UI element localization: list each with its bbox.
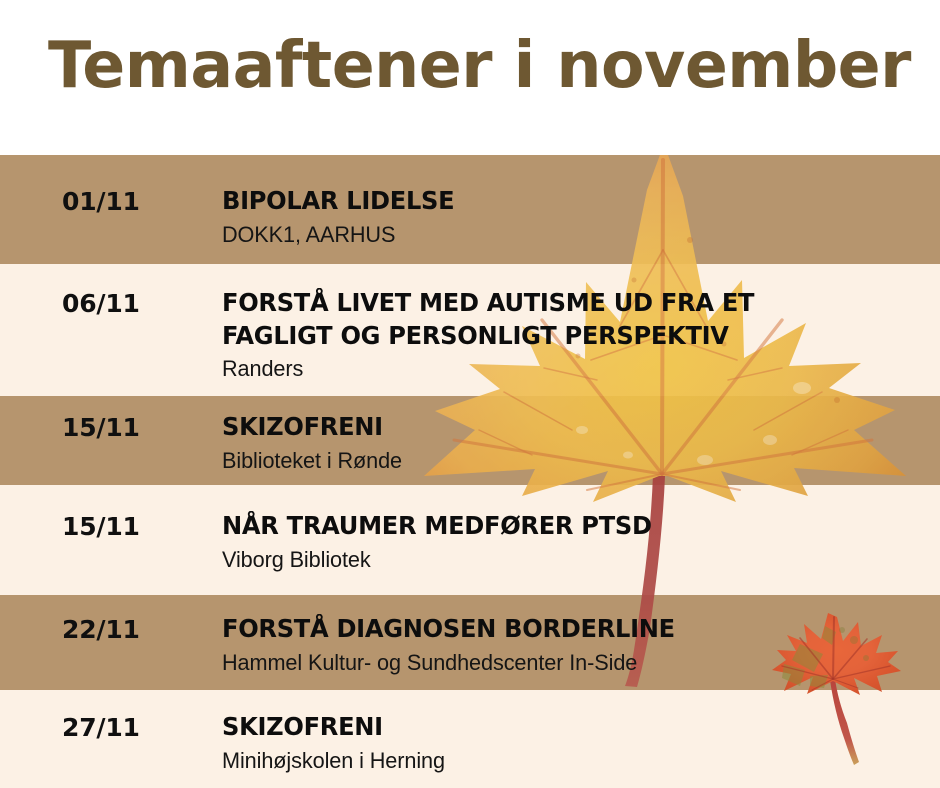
event-date: 01/11	[62, 187, 140, 216]
event-venue: Viborg Bibliotek	[222, 546, 919, 574]
event-venue: Minihøjskolen i Herning	[222, 747, 919, 775]
event-date: 22/11	[62, 615, 140, 644]
event-date: 27/11	[62, 713, 140, 742]
poster-canvas: 01/11 BIPOLAR LIDELSE DOKK1, AARHUS 06/1…	[0, 0, 940, 788]
event-date: 15/11	[62, 413, 140, 442]
event-text-layer: 01/11 BIPOLAR LIDELSE DOKK1, AARHUS 06/1…	[0, 155, 940, 788]
event-title: FORSTÅ DIAGNOSEN BORDERLINE	[222, 613, 905, 646]
event-details: SKIZOFRENI Biblioteket i Rønde	[222, 411, 930, 474]
event-row[interactable]: 22/11 FORSTÅ DIAGNOSEN BORDERLINE Hammel…	[0, 595, 940, 690]
event-details: BIPOLAR LIDELSE DOKK1, AARHUS	[222, 185, 930, 248]
event-title: FORSTÅ LIVET MED AUTISME UD FRA ET FAGLI…	[222, 287, 905, 352]
event-title: SKIZOFRENI	[222, 411, 905, 444]
event-title: SKIZOFRENI	[222, 711, 905, 744]
event-title: NÅR TRAUMER MEDFØRER PTSD	[222, 510, 905, 543]
event-venue: Hammel Kultur- og Sundhedscenter In-Side	[222, 649, 919, 677]
event-venue: DOKK1, AARHUS	[222, 221, 919, 249]
event-row[interactable]: 15/11 SKIZOFRENI Biblioteket i Rønde	[0, 396, 940, 485]
event-details: FORSTÅ DIAGNOSEN BORDERLINE Hammel Kultu…	[222, 613, 930, 676]
event-row[interactable]: 15/11 NÅR TRAUMER MEDFØRER PTSD Viborg B…	[0, 485, 940, 595]
event-row[interactable]: 01/11 BIPOLAR LIDELSE DOKK1, AARHUS	[0, 155, 940, 264]
event-details: SKIZOFRENI Minihøjskolen i Herning	[222, 711, 930, 774]
event-row[interactable]: 27/11 SKIZOFRENI Minihøjskolen i Herning	[0, 690, 940, 788]
event-venue: Biblioteket i Rønde	[222, 447, 919, 475]
event-details: FORSTÅ LIVET MED AUTISME UD FRA ET FAGLI…	[222, 287, 930, 383]
event-title: BIPOLAR LIDELSE	[222, 185, 905, 218]
page-title: Temaaftener i november	[48, 33, 911, 100]
event-row[interactable]: 06/11 FORSTÅ LIVET MED AUTISME UD FRA ET…	[0, 264, 940, 396]
event-details: NÅR TRAUMER MEDFØRER PTSD Viborg Bibliot…	[222, 510, 930, 573]
event-date: 06/11	[62, 289, 140, 318]
event-date: 15/11	[62, 512, 140, 541]
event-venue: Randers	[222, 355, 919, 383]
poster-header: Temaaftener i november	[0, 0, 940, 155]
